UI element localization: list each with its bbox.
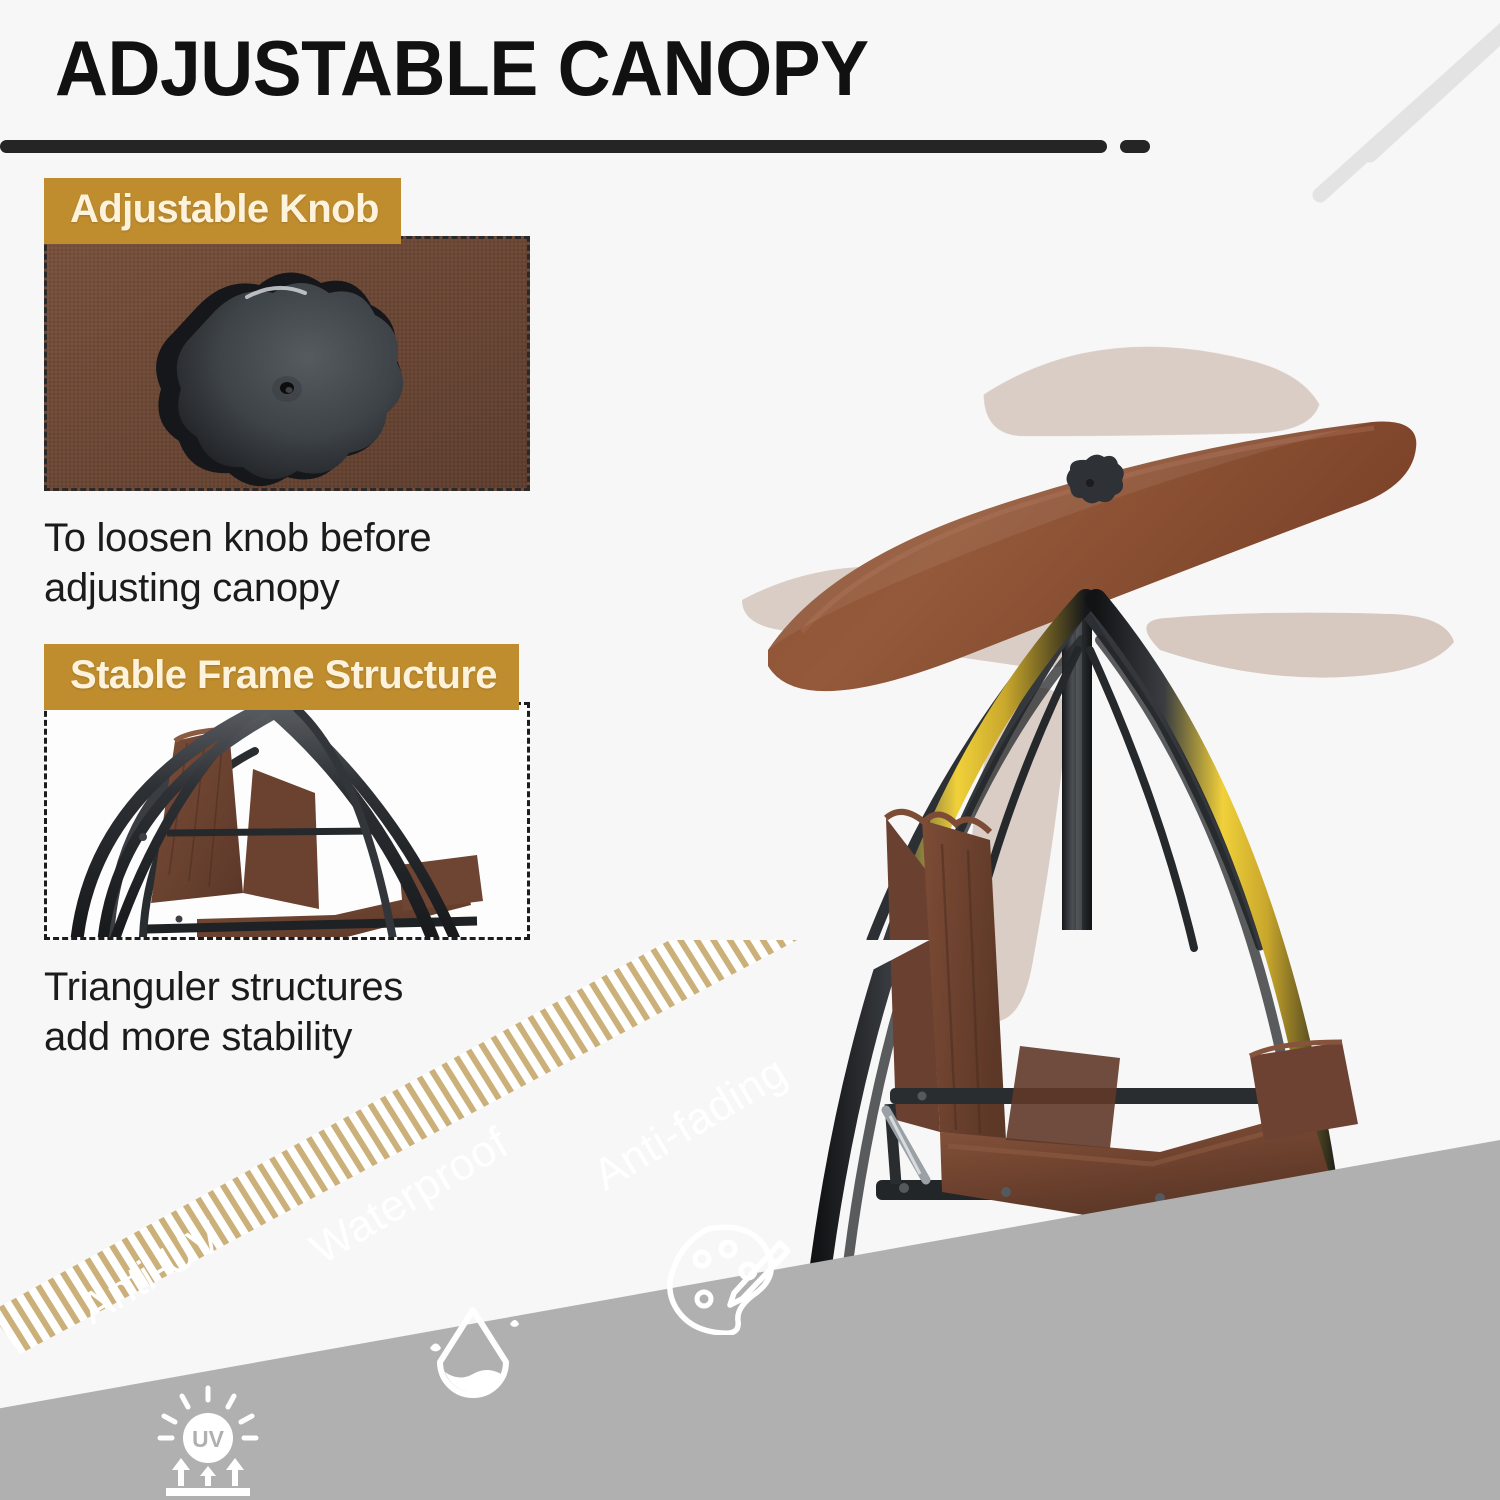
- frame-structure-photo: [44, 702, 530, 940]
- feature-card-adjustable-knob: Adjustable Knob: [44, 178, 604, 614]
- benefit-anti-uv: Anti-UV: [72, 1212, 231, 1335]
- knob-photo-graphic: [47, 239, 530, 491]
- uv-icon-text: UV: [192, 1426, 225, 1452]
- badge-stable-frame-structure: Stable Frame Structure: [44, 644, 519, 710]
- title-underline: [0, 136, 1210, 158]
- base-bar-and-feet: [805, 1300, 1369, 1500]
- page-title: ADJUSTABLE CANOPY: [55, 28, 1108, 110]
- product-illustration-canopy-swing: [690, 180, 1500, 1500]
- paint-palette-icon: [660, 1215, 790, 1335]
- benefit-label-anti-uv: Anti-UV: [72, 1212, 231, 1335]
- water-drop-icon: [418, 1298, 528, 1418]
- feature-card-stable-frame: Stable Frame Structure: [44, 644, 604, 1063]
- title-block: ADJUSTABLE CANOPY: [55, 28, 1175, 110]
- left-feature-column: Adjustable Knob: [44, 178, 604, 1063]
- benefit-waterproof: Waterproof: [302, 1118, 517, 1275]
- benefit-label-waterproof: Waterproof: [302, 1118, 517, 1275]
- badge-adjustable-knob: Adjustable Knob: [44, 178, 401, 244]
- uv-sun-icon: UV: [148, 1382, 268, 1500]
- caption-adjustable-knob: To loosen knob before adjusting canopy: [44, 513, 604, 614]
- caption-stable-frame-structure: Trianguler structures add more stability: [44, 962, 604, 1063]
- infographic-canvas: ADJUSTABLE CANOPY Adjustable Knob: [0, 0, 1500, 1500]
- frame-photo-graphic: [47, 705, 530, 940]
- knob-closeup-photo: [44, 236, 530, 491]
